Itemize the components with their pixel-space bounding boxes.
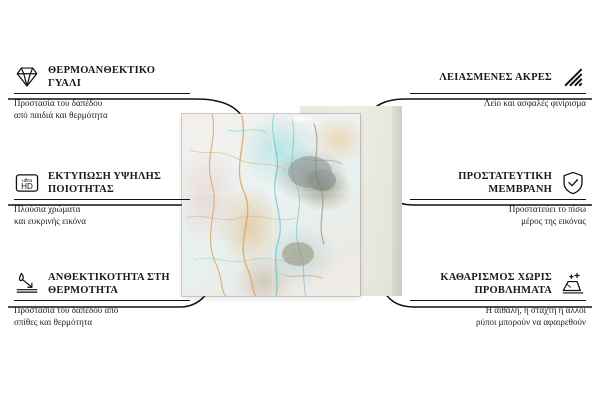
feature-right-1-head: ΛΕΙΑΣΜΕΝΕΣ ΑΚΡΕΣ [410,64,586,90]
feature-left-1-rule [14,93,190,94]
infographic-stage: ΘΕΡΜΟΑΝΘΕΚΤΙΚΟ ΓΥΑΛΙ Προστασία του δαπέδ… [0,0,600,400]
heat-resistance-icon [14,271,40,297]
feature-left-3-desc-line1: Προστασία του δαπέδου από [14,305,190,317]
feature-left-1-head: ΘΕΡΜΟΑΝΘΕΚΤΙΚΟ ΓΥΑΛΙ [14,64,190,90]
marble-veins [182,114,360,296]
feature-right-1-rule [410,93,586,94]
feature-left-2-desc-line1: Πλούσια χρώματα [14,204,190,216]
product-image [182,108,402,303]
feature-right-3-desc-line1: Η αιθάλη, η στάχτη ή άλλοι [410,305,586,317]
ultra-hd-icon: ultra HD [14,170,40,196]
feature-right-2-head: ΠΡΟΣΤΑΤΕΥΤΙΚΗ ΜΕΜΒΡΑΝΗ [410,170,586,196]
feature-left-1-desc: Προστασία του δαπέδου από παιδιά και θερ… [14,98,190,121]
feature-right-1-desc-line1: Λείο και ασφαλές φινίρισμα [410,98,586,110]
feature-right-1: ΛΕΙΑΣΜΕΝΕΣ ΑΚΡΕΣ Λείο και ασφαλές φινίρι… [410,64,586,110]
feature-left-3-rule [14,300,190,301]
feature-right-3-desc-line2: ρύποι μπορούν να αφαιρεθούν [410,317,586,329]
feature-right-3-desc: Η αιθάλη, η στάχτη ή άλλοι ρύποι μπορούν… [410,305,586,328]
feature-right-1-desc: Λείο και ασφαλές φινίρισμα [410,98,586,110]
feature-right-2-title: ΠΡΟΣΤΑΤΕΥΤΙΚΗ ΜΕΜΒΡΑΝΗ [410,170,552,196]
feature-left-1: ΘΕΡΜΟΑΝΘΕΚΤΙΚΟ ΓΥΑΛΙ Προστασία του δαπέδ… [14,64,190,121]
product-glass-front [182,114,360,296]
feature-left-1-desc-line1: Προστασία του δαπέδου [14,98,190,110]
feature-left-2-head: ultra HD ΕΚΤΥΠΩΣΗ ΥΨΗΛΗΣ ΠΟΙΟΤΗΤΑΣ [14,170,190,196]
feature-left-1-title: ΘΕΡΜΟΑΝΘΕΚΤΙΚΟ ΓΥΑΛΙ [48,64,190,90]
feature-right-3-head: ΚΑΘΑΡΙΣΜΟΣ ΧΩΡΙΣ ΠΡΟΒΛΗΜΑΤΑ [410,271,586,297]
feature-left-2-desc: Πλούσια χρώματα και ευκρινής εικόνα [14,204,190,227]
feature-right-3-title: ΚΑΘΑΡΙΣΜΟΣ ΧΩΡΙΣ ΠΡΟΒΛΗΜΑΤΑ [410,271,552,297]
svg-text:HD: HD [21,182,33,191]
feature-right-2-desc-line2: μέρος της εικόνας [410,216,586,228]
polished-edges-icon [560,64,586,90]
feature-left-3-head: ΑΝΘΕΚΤΙΚΟΤΗΤΑ ΣΤΗ ΘΕΡΜΟΤΗΤΑ [14,271,190,297]
feature-left-2-title: ΕΚΤΥΠΩΣΗ ΥΨΗΛΗΣ ΠΟΙΟΤΗΤΑΣ [48,170,190,196]
glass-highlight [285,115,319,123]
feature-left-3: ΑΝΘΕΚΤΙΚΟΤΗΤΑ ΣΤΗ ΘΕΡΜΟΤΗΤΑ Προστασία το… [14,271,190,328]
diamond-icon [14,64,40,90]
feature-right-2-desc-line1: Προστατεύει το πίσω [410,204,586,216]
feature-right-3: ΚΑΘΑΡΙΣΜΟΣ ΧΩΡΙΣ ΠΡΟΒΛΗΜΑΤΑ Η αιθάλη, η … [410,271,586,328]
feature-left-2: ultra HD ΕΚΤΥΠΩΣΗ ΥΨΗΛΗΣ ΠΟΙΟΤΗΤΑΣ Πλούσ… [14,170,190,227]
feature-right-1-title: ΛΕΙΑΣΜΕΝΕΣ ΑΚΡΕΣ [439,71,552,84]
feature-left-1-desc-line2: από παιδιά και θερμότητα [14,110,190,122]
feature-left-3-desc: Προστασία του δαπέδου από σπίθες και θερ… [14,305,190,328]
feature-right-3-rule [410,300,586,301]
feature-right-2-rule [410,199,586,200]
easy-cleaning-icon [560,271,586,297]
feature-right-2: ΠΡΟΣΤΑΤΕΥΤΙΚΗ ΜΕΜΒΡΑΝΗ Προστατεύει το πί… [410,170,586,227]
feature-left-2-rule [14,199,190,200]
feature-left-3-title: ΑΝΘΕΚΤΙΚΟΤΗΤΑ ΣΤΗ ΘΕΡΜΟΤΗΤΑ [48,271,190,297]
feature-left-2-desc-line2: και ευκρινής εικόνα [14,216,190,228]
shield-check-icon [560,170,586,196]
feature-left-3-desc-line2: σπίθες και θερμότητα [14,317,190,329]
feature-right-2-desc: Προστατεύει το πίσω μέρος της εικόνας [410,204,586,227]
